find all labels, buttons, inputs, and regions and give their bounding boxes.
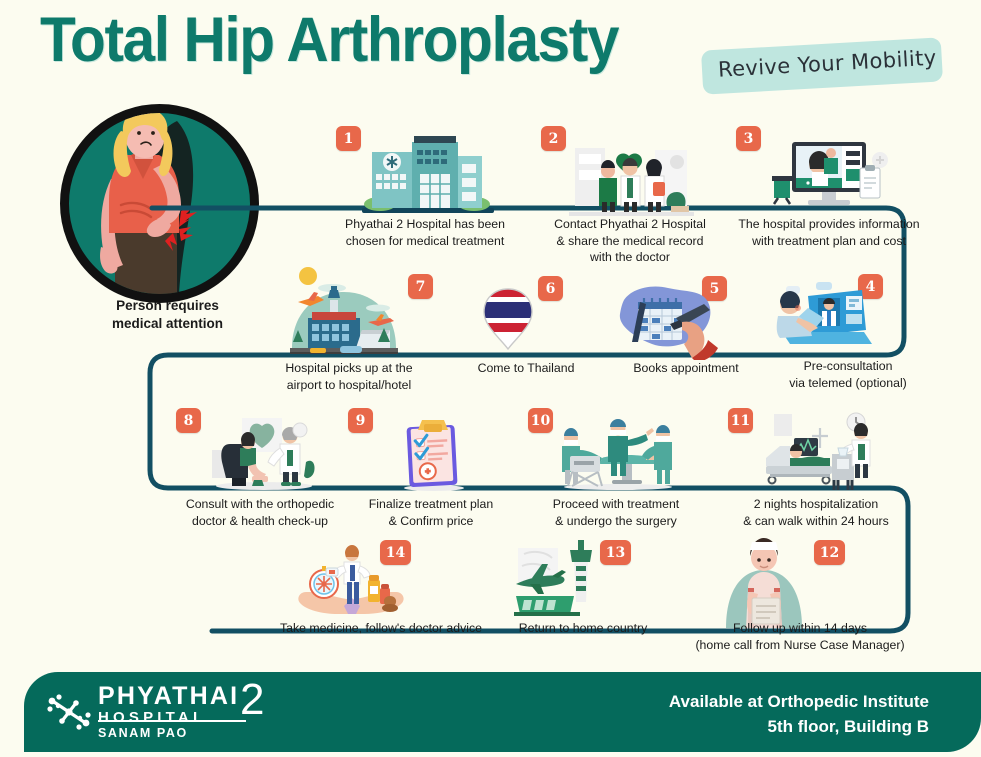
step-7: 7 [266,262,456,382]
hero-caption-line1: Person requires [55,297,280,315]
calendar-booking-icon [610,282,722,365]
logo-brand-name: PHYATHAI [98,684,239,709]
medical-team-icon [569,138,694,223]
medicine-hands-icon [296,540,406,625]
step-3: 3 [730,124,940,244]
step-9-caption: Finalize treatment plan & Confirm price [336,496,526,529]
step-3-caption-line1: The hospital provides information [704,216,954,233]
step-10-caption: Proceed with treatment & undergo the sur… [516,496,716,529]
hospital-building-icon [358,132,498,223]
step-7-caption-line2: airport to hospital/hotel [254,377,444,394]
step-11-number: 11 [728,408,753,433]
desktop-video-consult-icon [764,138,894,221]
step-11-caption-line2: & can walk within 24 hours [716,513,916,530]
step-9-number: 9 [348,408,373,433]
person-hip-pain-illustration-icon [69,113,250,294]
step-8-caption-line2: doctor & health check-up [160,513,360,530]
step-1-caption: Phyathai 2 Hospital has been chosen for … [320,216,530,249]
step-12-caption: Follow up within 14 days (home call from… [660,620,940,653]
step-11-caption-line1: 2 nights hospitalization [716,496,916,513]
step-1-caption-line2: chosen for medical treatment [320,233,530,250]
step-12: 12 [700,528,900,648]
hospital-bed-icon [752,410,880,497]
step-12-caption-line1: Follow up within 14 days [660,620,940,637]
hero-circle-frame [60,104,259,303]
logo-brand-number: 2 [240,678,264,722]
step-6-caption: Come to Thailand [438,360,614,377]
step-7-caption: Hospital picks up at the airport to hosp… [254,360,444,393]
tagline-badge: Revive Your Mobility [701,37,943,94]
step-12-caption-line2: (home call from Nurse Case Manager) [660,637,940,654]
tagline-text: Revive Your Mobility [717,46,937,82]
footer-availability: Available at Orthopedic Institute 5th fl… [669,689,929,739]
step-6: 6 Come t [460,272,590,382]
hero-caption-line2: medical attention [55,315,280,333]
logo-divider [98,720,246,722]
step-2-caption-line3: with the doctor [525,249,735,266]
footer-availability-line2: 5th floor, Building B [669,714,929,739]
step-4-caption: Pre-consultation via telemed (optional) [758,358,938,391]
hero-caption: Person requires medical attention [55,297,280,333]
hero-illustration-group: Person requires medical attention [60,104,275,289]
airport-terminal-icon [272,264,412,361]
step-10: 10 [522,404,712,524]
step-9-caption-line1: Finalize treatment plan [336,496,526,513]
step-1: 1 [330,124,520,244]
step-14: 14 [288,534,478,644]
page-title: Total Hip Arthroplasty [40,4,618,76]
step-3-number: 3 [736,126,761,151]
step-3-caption-line2: with treatment plan and cost [704,233,954,250]
telemedicine-laptop-icon [768,278,878,359]
infographic-canvas: Total Hip Arthroplasty Revive Your Mobil… [0,0,981,757]
footer-availability-line1: Available at Orthopedic Institute [669,689,929,714]
step-11-caption: 2 nights hospitalization & can walk with… [716,496,916,529]
footer-bar: PHYATHAI HOSPITAL 2 SANAM PAO Available … [24,672,981,752]
step-6-caption-line1: Come to Thailand [438,360,614,377]
step-4-caption-line1: Pre-consultation [758,358,938,375]
step-7-caption-line1: Hospital picks up at the [254,360,444,377]
step-6-number: 6 [538,276,563,301]
step-8: 8 [172,404,352,524]
step-4: 4 P [764,268,934,388]
step-3-caption: The hospital provides information with t… [704,216,954,249]
airplane-departure-icon [508,540,613,625]
step-10-caption-line1: Proceed with treatment [516,496,716,513]
step-4-caption-line2: via telemed (optional) [758,375,938,392]
step-5-caption-line1: Books appointment [596,360,776,377]
phyathai-molecule-logo-icon [46,692,92,732]
nurse-followup-icon [712,536,816,633]
surgery-operation-icon [550,414,685,495]
thailand-flag-pin-icon [482,288,536,355]
clipboard-checklist-icon [394,412,474,497]
step-9-caption-line2: & Confirm price [336,513,526,530]
step-13: 13 [500,534,680,644]
step-8-caption-line1: Consult with the orthopedic [160,496,360,513]
step-12-number: 12 [814,540,845,565]
step-11: 11 [722,404,912,524]
step-5-caption: Books appointment [596,360,776,377]
doctor-consultation-icon [204,414,324,495]
logo-brand-sub: HOSPITAL [98,709,239,727]
step-8-number: 8 [176,408,201,433]
step-2: 2 [535,124,725,264]
step-8-caption: Consult with the orthopedic doctor & hea… [160,496,360,529]
step-2-number: 2 [541,126,566,151]
step-10-caption-line2: & undergo the surgery [516,513,716,530]
logo-branch-name: SANAM PAO [98,726,188,740]
step-5: 5 Bo [606,272,766,382]
step-1-caption-line1: Phyathai 2 Hospital has been [320,216,530,233]
step-9: 9 [342,404,522,524]
